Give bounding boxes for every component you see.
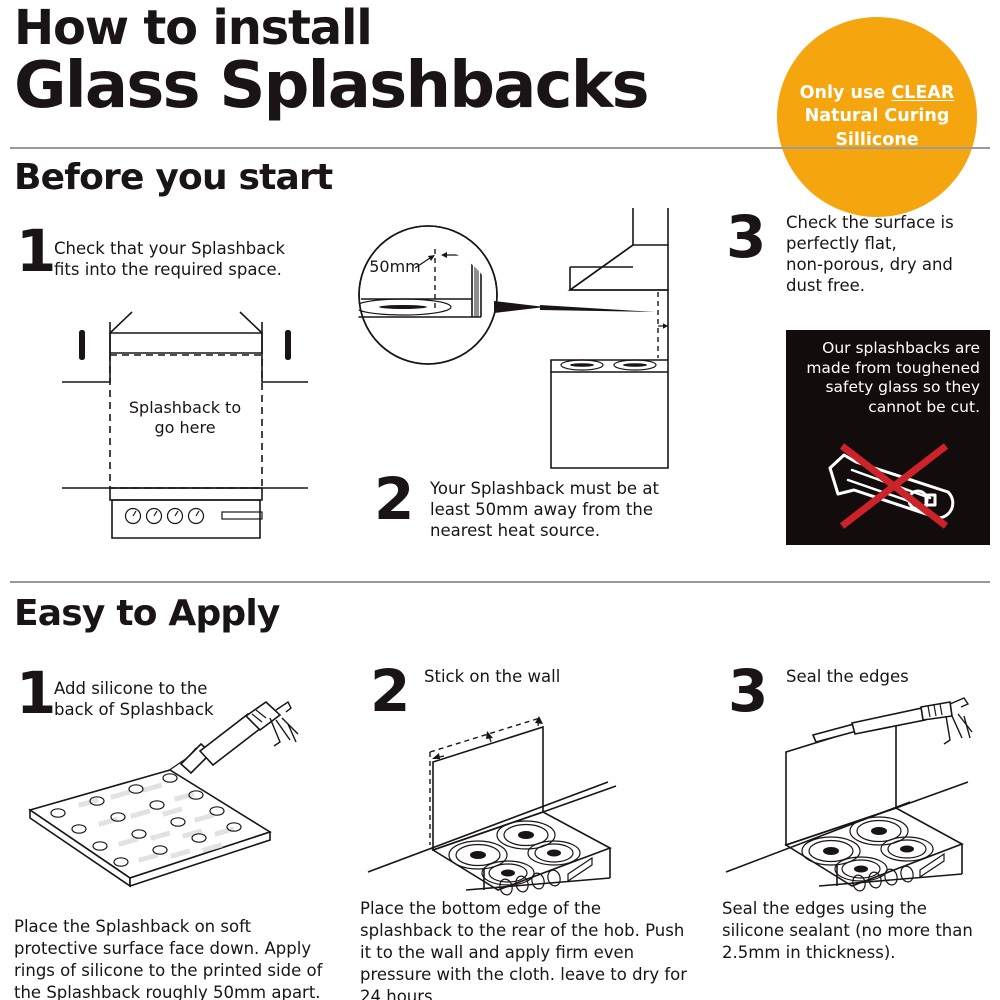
divider-mid — [10, 581, 990, 583]
section-title-easy-to-apply: Easy to Apply — [14, 596, 280, 632]
step-text-apply-3: Seal the edges — [786, 666, 996, 687]
divider-top — [10, 147, 990, 149]
step-number-before-2: 2 — [374, 470, 414, 528]
page-title-line1: How to install — [14, 4, 371, 52]
badge-text: Only use CLEAR Natural Curing Sillicone — [786, 82, 969, 151]
warning-panel-cannot-be-cut: Our splashbacks are made from toughened … — [786, 330, 990, 545]
figure-label-splashback-to-go-here: Splashback to go here — [40, 398, 330, 438]
figure-label-50mm: 50mm — [369, 257, 421, 276]
step-number-before-1: 1 — [16, 222, 56, 280]
figure-silicone-rings-on-panel — [18, 700, 318, 890]
warning-panel-text: Our splashbacks are made from toughened … — [796, 339, 980, 417]
utility-knife-crossed-out-icon — [798, 438, 978, 536]
page-title-line2: Glass Splashbacks — [14, 54, 648, 118]
clear-silicone-badge: Only use CLEAR Natural Curing Sillicone — [777, 17, 977, 217]
badge-line1-underlined: CLEAR — [891, 83, 954, 103]
step-text-before-1: Check that your Splashback fits into the… — [54, 238, 324, 280]
caption-apply-2: Place the bottom edge of the splashback … — [360, 898, 690, 1000]
poster-root: How to install Glass Splashbacks Only us… — [0, 0, 1000, 1000]
section-title-before-you-start: Before you start — [14, 160, 332, 196]
caption-apply-3: Seal the edges using the silicone sealan… — [722, 898, 982, 964]
badge-line1-pre: Only use — [800, 83, 892, 103]
step-text-before-3: Check the surface is perfectly flat, non… — [786, 212, 991, 296]
caption-apply-1: Place the Splashback on soft protective … — [14, 916, 334, 1000]
figure-50mm-clearance: 50mm — [355, 200, 700, 475]
figure-seal-the-edges — [718, 690, 1000, 870]
step-number-before-3: 3 — [726, 208, 766, 266]
step-text-before-2: Your Splashback must be at least 50mm aw… — [430, 478, 690, 541]
figure-stick-on-wall — [358, 690, 708, 870]
step-text-apply-2: Stick on the wall — [424, 666, 684, 687]
badge-line2: Natural Curing — [805, 106, 950, 126]
